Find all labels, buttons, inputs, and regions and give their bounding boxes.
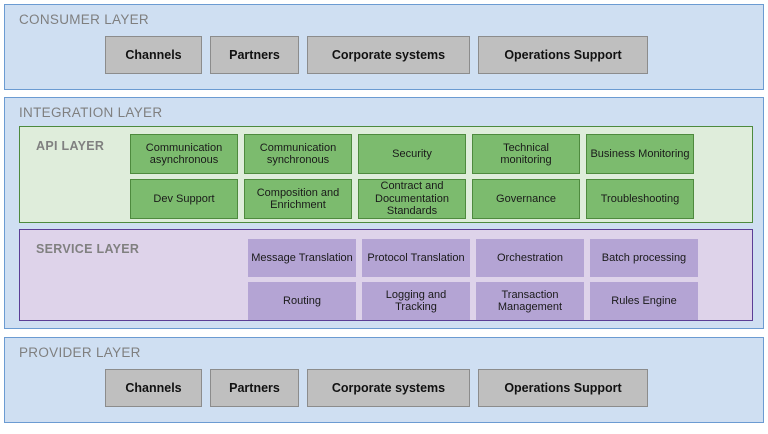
service-cell-batch-processing[interactable]: Batch processing <box>590 239 698 277</box>
integration-layer-title: INTEGRATION LAYER <box>19 105 162 120</box>
service-layer-grid: Message Translation Protocol Translation… <box>248 239 698 320</box>
consumer-layer-panel: CONSUMER LAYER Channels Partners Corpora… <box>4 4 764 90</box>
api-cell-composition-and-enrichment[interactable]: Composition and Enrichment <box>244 179 352 219</box>
service-layer-row: Routing Logging and Tracking Transaction… <box>248 282 698 320</box>
provider-node-channels[interactable]: Channels <box>105 369 202 407</box>
api-cell-governance[interactable]: Governance <box>472 179 580 219</box>
provider-layer-panel: PROVIDER LAYER Channels Partners Corpora… <box>4 337 764 423</box>
provider-node-partners[interactable]: Partners <box>210 369 299 407</box>
consumer-layer-title: CONSUMER LAYER <box>19 12 149 27</box>
api-cell-communication-synchronous[interactable]: Communication synchronous <box>244 134 352 174</box>
service-cell-protocol-translation[interactable]: Protocol Translation <box>362 239 470 277</box>
service-cell-logging-and-tracking[interactable]: Logging and Tracking <box>362 282 470 320</box>
integration-layer-panel: INTEGRATION LAYER API LAYER Communicatio… <box>4 97 764 329</box>
consumer-node-partners[interactable]: Partners <box>210 36 299 74</box>
api-cell-technical-monitoring[interactable]: Technical monitoring <box>472 134 580 174</box>
provider-layer-title: PROVIDER LAYER <box>19 345 141 360</box>
api-cell-troubleshooting[interactable]: Troubleshooting <box>586 179 694 219</box>
provider-node-corporate-systems[interactable]: Corporate systems <box>307 369 470 407</box>
service-layer-row: Message Translation Protocol Translation… <box>248 239 698 277</box>
provider-node-row: Channels Partners Corporate systems Oper… <box>5 368 763 408</box>
service-cell-routing[interactable]: Routing <box>248 282 356 320</box>
api-cell-communication-asynchronous[interactable]: Communication asynchronous <box>130 134 238 174</box>
api-cell-security[interactable]: Security <box>358 134 466 174</box>
service-layer-title: SERVICE LAYER <box>36 242 139 256</box>
api-layer-title: API LAYER <box>36 139 104 153</box>
provider-node-operations-support[interactable]: Operations Support <box>478 369 648 407</box>
consumer-node-operations-support[interactable]: Operations Support <box>478 36 648 74</box>
consumer-node-corporate-systems[interactable]: Corporate systems <box>307 36 470 74</box>
consumer-node-channels[interactable]: Channels <box>105 36 202 74</box>
api-layer-panel: API LAYER Communication asynchronous Com… <box>19 126 753 223</box>
api-cell-business-monitoring[interactable]: Business Monitoring <box>586 134 694 174</box>
service-layer-panel: SERVICE LAYER Message Translation Protoc… <box>19 229 753 321</box>
service-cell-rules-engine[interactable]: Rules Engine <box>590 282 698 320</box>
api-layer-row: Communication asynchronous Communication… <box>130 134 694 174</box>
service-cell-orchestration[interactable]: Orchestration <box>476 239 584 277</box>
service-cell-transaction-management[interactable]: Transaction Management <box>476 282 584 320</box>
api-layer-grid: Communication asynchronous Communication… <box>130 134 694 219</box>
api-cell-dev-support[interactable]: Dev Support <box>130 179 238 219</box>
architecture-diagram: CONSUMER LAYER Channels Partners Corpora… <box>0 0 768 434</box>
service-cell-message-translation[interactable]: Message Translation <box>248 239 356 277</box>
consumer-node-row: Channels Partners Corporate systems Oper… <box>5 35 763 75</box>
api-cell-contract-and-documentation-standards[interactable]: Contract and Documentation Standards <box>358 179 466 219</box>
api-layer-row: Dev Support Composition and Enrichment C… <box>130 179 694 219</box>
